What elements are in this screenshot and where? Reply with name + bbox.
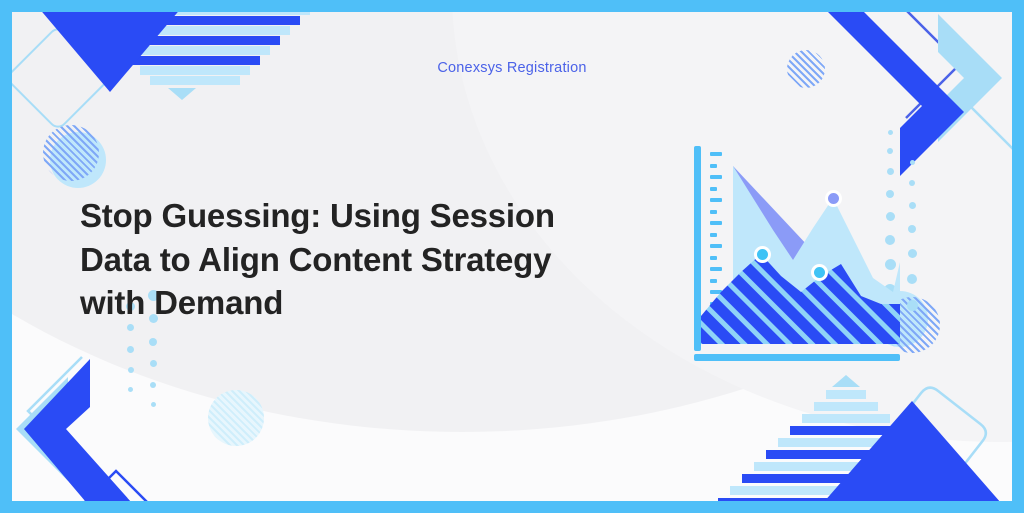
arrow-chevron-bottom-icon: [12, 315, 226, 501]
outline-square-icon: [12, 24, 112, 131]
chevron-outline-bottom-icon: [12, 315, 226, 501]
top-left-decoration: [12, 12, 340, 198]
chart-y-axis: [694, 146, 701, 351]
pale-circle-bottom-left: [208, 390, 264, 446]
poster-inner: Conexsys Registration Stop Guessing: Usi…: [12, 12, 1012, 501]
poster-card: Conexsys Registration Stop Guessing: Usi…: [0, 0, 1024, 513]
bottom-left-decoration: [12, 315, 226, 501]
chart-series-svg: [701, 146, 900, 344]
chart-point-2: [825, 190, 842, 207]
chevron-light-bottom-icon: [12, 315, 226, 501]
chart-illustration: [688, 146, 900, 361]
chart-point-3: [811, 264, 828, 281]
small-triangle-icon: [168, 88, 196, 100]
chart-point-1: [754, 246, 771, 263]
solid-circle-icon: [50, 132, 106, 188]
blue-triangle-up-icon: [816, 401, 1008, 501]
chart-plot-area: [701, 146, 900, 344]
eyebrow-text: Conexsys Registration: [12, 60, 1012, 76]
banded-triangle-up-icon: [726, 381, 976, 501]
striped-circle-upper-left: [40, 122, 110, 192]
page-title: Stop Guessing: Using Session Data to Ali…: [80, 194, 620, 325]
chart-x-axis: [694, 354, 900, 361]
blue-triangle-icon: [32, 12, 188, 92]
small-triangle-up-icon: [832, 375, 860, 387]
stripe-circle-icon: [43, 125, 99, 181]
